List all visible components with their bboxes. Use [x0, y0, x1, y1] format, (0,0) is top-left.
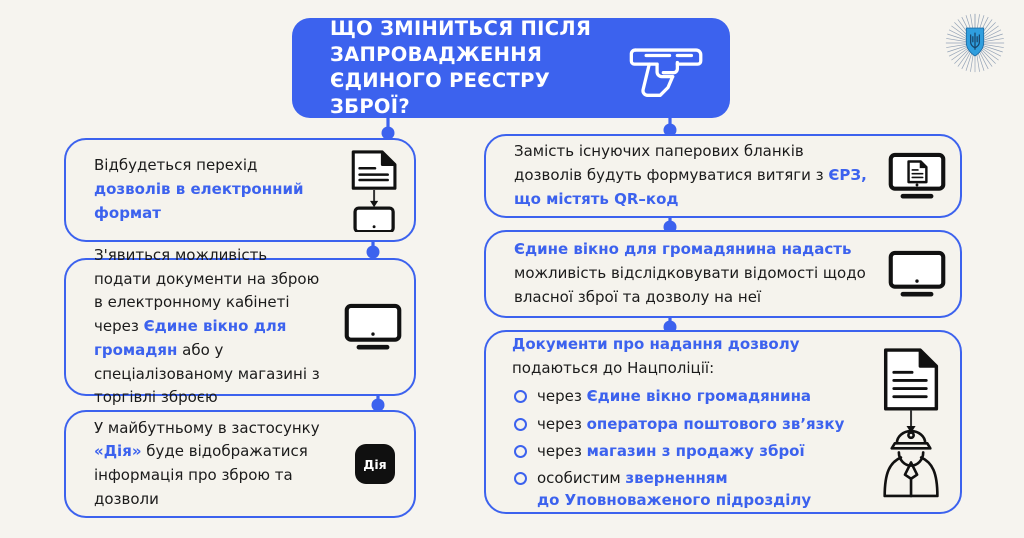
bullet-circle-icon [514, 472, 527, 485]
infographic-canvas: ЩО ЗМІНИТЬСЯ ПІСЛЯ ЗАПРОВАДЖЕННЯ ЄДИНОГО… [0, 0, 1024, 538]
card-left-1-text: Відбудеться перехід дозволів в електронн… [94, 154, 330, 225]
document-to-police-officer-icon [856, 342, 960, 502]
card-left-3-body: У майбутньому в застосунку «Дія» буде ві… [66, 417, 336, 512]
pistol-icon [628, 36, 708, 100]
card-left-2: З'явиться можливість подати документи на… [64, 258, 416, 396]
card-right-3-lead: Документи про надання дозволу подаються … [512, 333, 856, 380]
list-item: через Єдине вікно громадянина [512, 386, 856, 407]
list-item-label: через Єдине вікно громадянина [537, 386, 811, 407]
card-left-2-body: З'явиться можливість подати документи на… [66, 244, 332, 410]
bullet-circle-icon [514, 445, 527, 458]
national-police-of-ukraine-emblem [944, 12, 1006, 74]
dia-app-label: Дія [355, 444, 395, 484]
bullet-circle-icon [514, 390, 527, 403]
card-right-2-body: Єдине вікно для громадянина надасть можл… [486, 238, 874, 309]
monitor-icon [874, 243, 960, 305]
list-item-label: особистим зверненням до Уповноваженого п… [537, 468, 811, 511]
header-banner: ЩО ЗМІНИТЬСЯ ПІСЛЯ ЗАПРОВАДЖЕННЯ ЄДИНОГО… [292, 18, 730, 118]
list-item: особистим зверненням до Уповноваженого п… [512, 468, 856, 511]
monitor-with-document-icon [874, 145, 960, 207]
page-title: ЩО ЗМІНИТЬСЯ ПІСЛЯ ЗАПРОВАДЖЕННЯ ЄДИНОГО… [330, 16, 628, 120]
card-right-3: Документи про надання дозволу подаються … [484, 330, 962, 514]
card-right-2-text: Єдине вікно для громадянина надасть можл… [514, 238, 868, 309]
document-to-monitor-icon [336, 146, 414, 234]
dia-app-icon: Дія [336, 434, 414, 494]
list-item-label: через магазин з продажу зброї [537, 441, 805, 462]
list-item: через оператора поштового зв’язку [512, 414, 856, 435]
submission-channel-list: через Єдине вікно громадянина через опер… [512, 386, 856, 510]
card-right-3-body: Документи про надання дозволу подаються … [486, 333, 856, 511]
monitor-icon [332, 292, 414, 362]
card-right-1-text: Замість існуючих паперових бланків дозво… [514, 140, 868, 211]
list-item: через магазин з продажу зброї [512, 441, 856, 462]
card-left-3-text: У майбутньому в застосунку «Дія» буде ві… [94, 417, 330, 512]
list-item-label: через оператора поштового зв’язку [537, 414, 844, 435]
card-left-1: Відбудеться перехід дозволів в електронн… [64, 138, 416, 242]
card-left-3: У майбутньому в застосунку «Дія» буде ві… [64, 410, 416, 518]
card-right-1-body: Замість існуючих паперових бланків дозво… [486, 140, 874, 211]
card-left-1-body: Відбудеться перехід дозволів в електронн… [66, 154, 336, 225]
card-right-2: Єдине вікно для громадянина надасть можл… [484, 230, 962, 318]
card-left-2-text: З'явиться можливість подати документи на… [94, 244, 326, 410]
bullet-circle-icon [514, 418, 527, 431]
card-right-1: Замість існуючих паперових бланків дозво… [484, 134, 962, 218]
